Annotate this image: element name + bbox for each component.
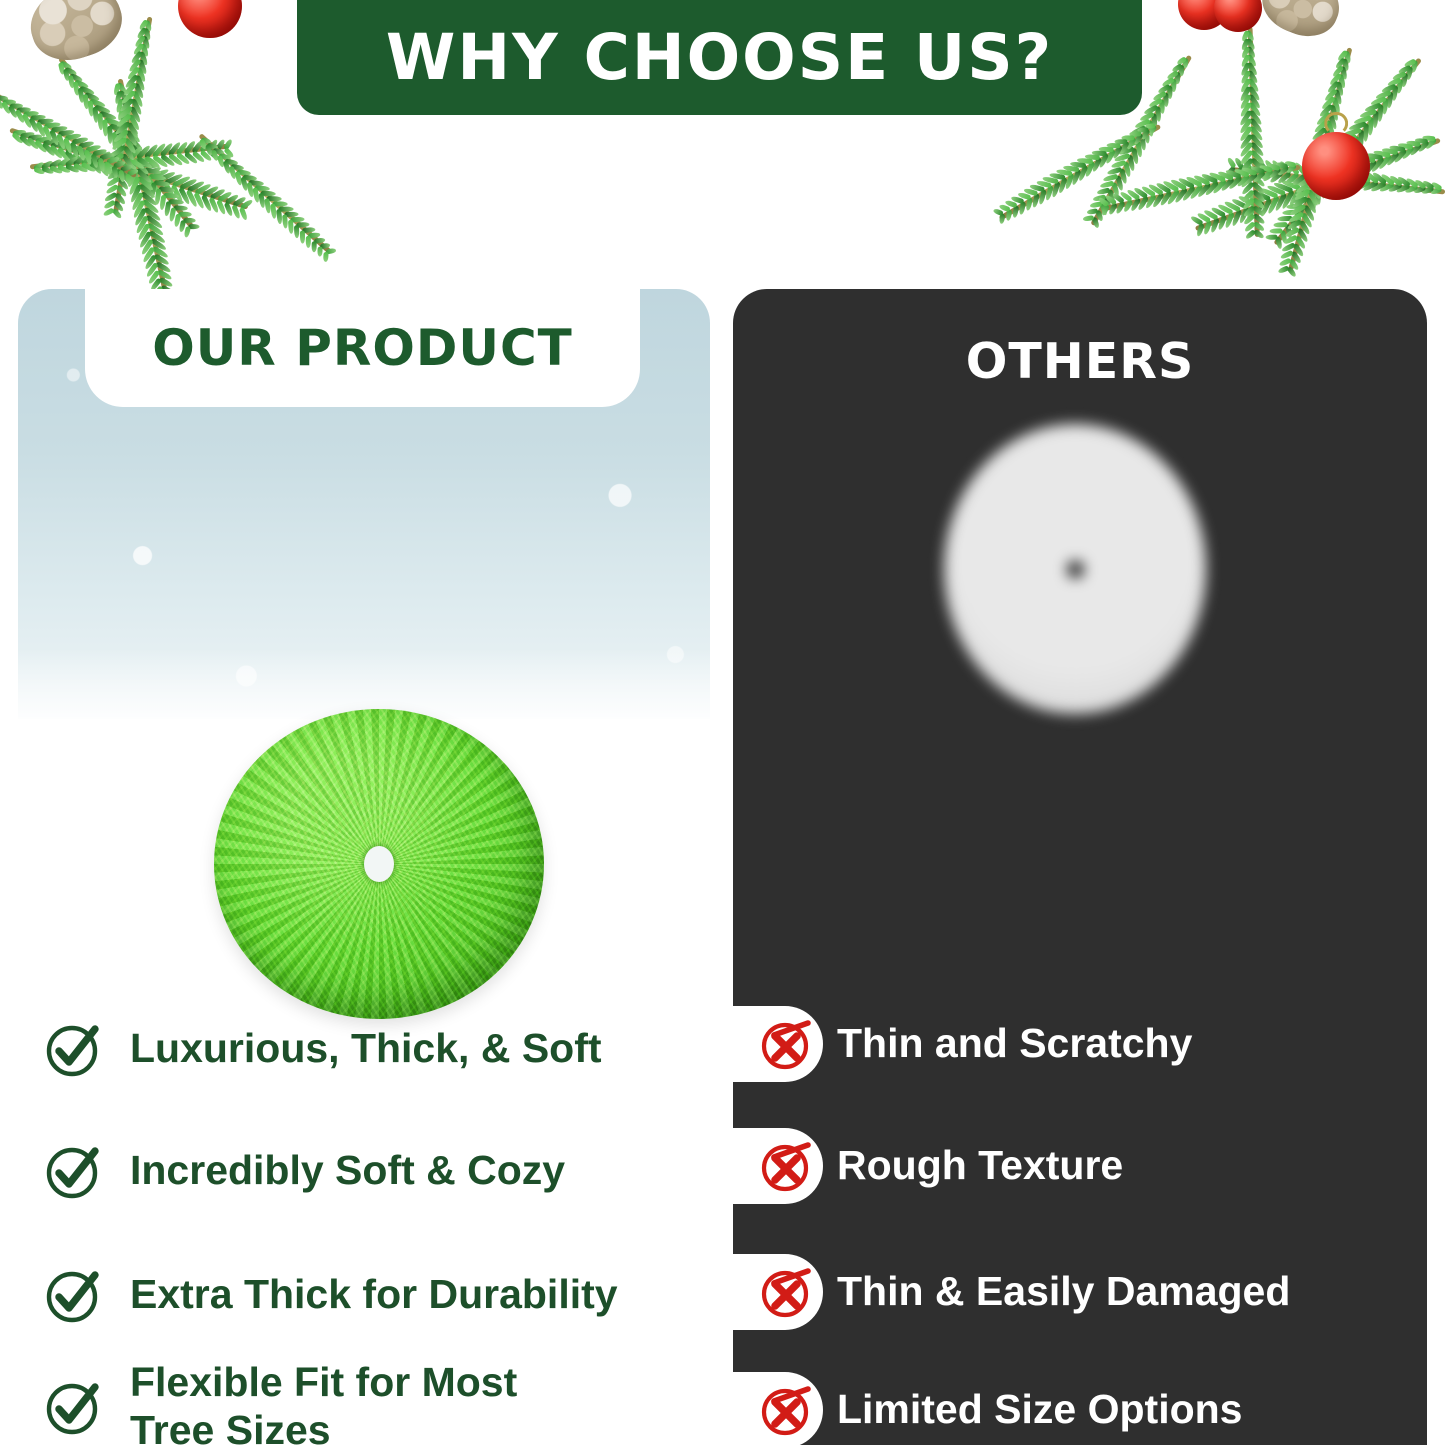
ornament-hook [1324,112,1348,136]
check-circle-icon [18,1140,130,1202]
list-item: Extra Thick for Durability [18,1253,710,1337]
our-product-label-box: OUR PRODUCT [85,289,640,407]
list-item: Rough Texture [733,1124,1427,1208]
list-item-label: Extra Thick for Durability [130,1271,618,1319]
our-product-feature-list: Luxurious, Thick, & Soft Incredibly Soft… [18,1007,710,1445]
pine-branch [1233,26,1274,237]
check-circle-icon [18,1264,130,1326]
our-product-panel: OUR PRODUCT Luxurious, Thick, & Soft [18,289,710,1445]
check-circle-icon [18,1018,130,1080]
x-circle-icon [733,1263,837,1321]
others-heading: OTHERS [733,333,1427,390]
page-title: WHY CHOOSE US? [386,21,1053,94]
list-item: Luxurious, Thick, & Soft [18,1007,710,1091]
page-title-banner: WHY CHOOSE US? [297,0,1142,115]
infographic-canvas: WHY CHOOSE US? OUR PRODUCT Luxurious, [0,0,1445,1445]
x-circle-icon [733,1015,837,1073]
x-circle-icon [733,1137,837,1195]
x-circle-icon [733,1381,837,1439]
green-fur-tree-skirt-image [214,709,544,1019]
list-item: Thin & Easily Damaged [733,1250,1427,1334]
list-item-label: Thin & Easily Damaged [837,1268,1290,1316]
pinecone-top-right [1253,0,1349,46]
list-item-label: Rough Texture [837,1142,1123,1190]
red-ornament-top-right [1302,132,1370,200]
list-item-label: Incredibly Soft & Cozy [130,1147,565,1195]
list-item-label: Limited Size Options [837,1386,1242,1434]
list-item: Flexible Fit for Most Tree Sizes [18,1359,710,1445]
list-item-label: Luxurious, Thick, & Soft [130,1025,602,1073]
others-panel: OTHERS Thin and Scratchy [733,289,1427,1445]
list-item: Incredibly Soft & Cozy [18,1129,710,1213]
red-ornament-top-left [178,0,242,38]
our-product-heading: OUR PRODUCT [152,319,573,377]
list-item-label: Thin and Scratchy [837,1020,1192,1068]
white-thin-tree-skirt-image [944,424,1206,714]
list-item: Limited Size Options [733,1368,1427,1445]
center-hole [1067,561,1084,578]
list-item-label: Flexible Fit for Most Tree Sizes [130,1359,517,1445]
list-item: Thin and Scratchy [733,1002,1427,1086]
check-circle-icon [18,1376,130,1438]
center-hole [364,846,394,882]
others-feature-list: Thin and Scratchy Rough Texture [733,1002,1427,1445]
